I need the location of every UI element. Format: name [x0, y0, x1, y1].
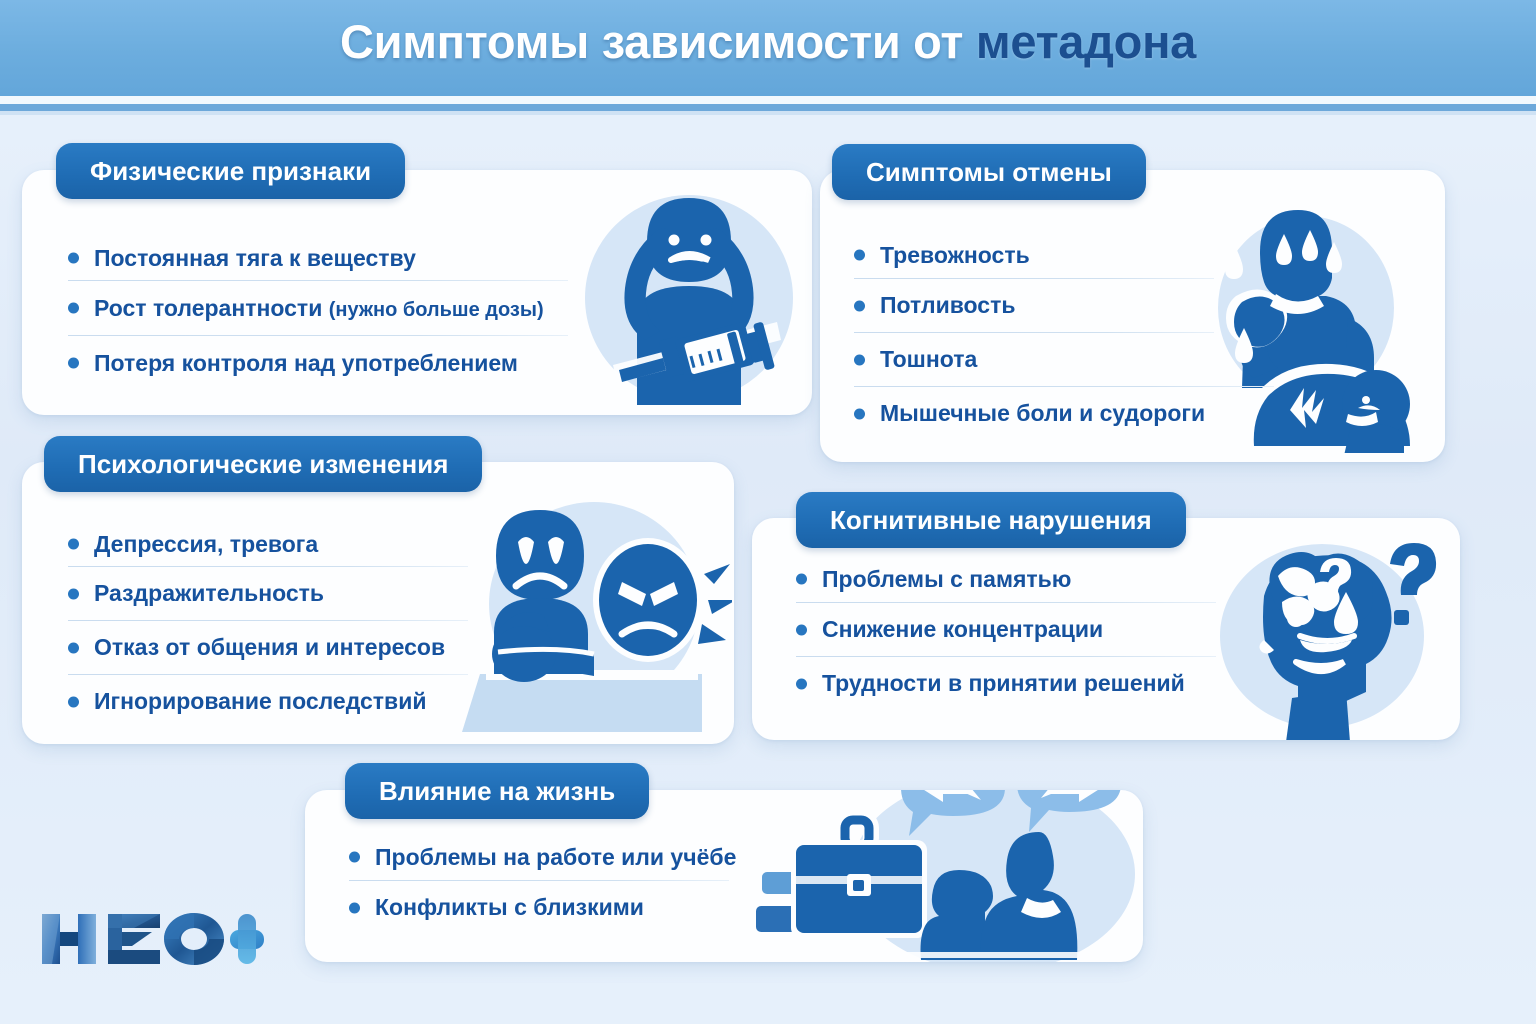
list-item-label: Постоянная тяга к веществу: [94, 245, 416, 271]
bullet-icon: [68, 253, 79, 264]
cognitive-impairment-list: Проблемы с памятью Снижение концентрации…: [796, 556, 1216, 710]
bullet-icon: [68, 303, 79, 314]
bullet-icon: [854, 408, 865, 419]
list-item: Проблемы с памятью: [796, 556, 1216, 602]
bullet-icon: [796, 624, 807, 635]
psychological-changes-list: Депрессия, тревога Раздражительность Отк…: [68, 522, 468, 728]
bullet-icon: [349, 902, 360, 913]
list-item-label: Мышечные боли и судороги: [880, 400, 1205, 426]
card-physical-signs: Постоянная тяга к веществу Рост толерант…: [22, 170, 812, 415]
list-item: Проблемы на работе или учёбе: [349, 834, 729, 880]
list-item-label: Проблемы с памятью: [822, 566, 1071, 592]
card-title-cognitive-impairment[interactable]: Когнитивные нарушения: [796, 492, 1186, 548]
list-item: Раздражительность: [68, 567, 468, 620]
infographic-poster: Симптомы зависимости от метадона: [0, 0, 1536, 1024]
list-item: Мышечные боли и судороги: [854, 387, 1214, 440]
page-title: Симптомы зависимости от метадона: [0, 14, 1536, 69]
header-divider-soft: [0, 111, 1536, 115]
header-divider-white: [0, 96, 1536, 104]
list-item: Трудности в принятии решений: [796, 657, 1216, 710]
list-item: Депрессия, тревога: [68, 522, 468, 566]
bullet-icon: [68, 642, 79, 653]
list-item: Снижение концентрации: [796, 603, 1216, 656]
list-item: Постоянная тяга к веществу: [68, 236, 568, 280]
list-item-label: Конфликты с близкими: [375, 894, 644, 920]
card-title-withdrawal-symptoms[interactable]: Симптомы отмены: [832, 144, 1146, 200]
head-with-brain-and-question-marks-icon: [1204, 530, 1449, 740]
card-title-psychological-changes[interactable]: Психологические изменения: [44, 436, 482, 492]
briefcase-books-and-arguing-couple-icon: [735, 790, 1143, 962]
bullet-icon: [68, 539, 79, 550]
bullet-icon: [349, 852, 360, 863]
bullet-icon: [68, 696, 79, 707]
list-item: Тревожность: [854, 232, 1214, 278]
bullet-icon: [796, 574, 807, 585]
physical-signs-list: Постоянная тяга к веществу Рост толерант…: [68, 236, 568, 390]
list-item-label: Снижение концентрации: [822, 616, 1103, 642]
list-item-label: Депрессия, тревога: [94, 531, 318, 557]
card-title-label: Влияние на жизнь: [379, 776, 615, 807]
card-title-label: Когнитивные нарушения: [830, 505, 1152, 536]
card-withdrawal-symptoms: Тревожность Потливость Тошнота Мышечные …: [820, 170, 1445, 462]
list-item-label: Рост толерантности: [94, 295, 329, 321]
list-item: Рост толерантности (нужно больше дозы): [68, 281, 568, 335]
list-item: Тошнота: [854, 333, 1214, 386]
card-title-label: Симптомы отмены: [866, 157, 1112, 188]
card-life-impact: Проблемы на работе или учёбе Конфликты с…: [305, 790, 1143, 962]
card-title-label: Психологические изменения: [78, 449, 448, 480]
list-item-label: Отказ от общения и интересов: [94, 634, 445, 660]
page-title-main: Симптомы зависимости от: [340, 15, 976, 68]
bullet-icon: [854, 300, 865, 311]
list-item: Конфликты с близкими: [349, 881, 729, 934]
card-title-life-impact[interactable]: Влияние на жизнь: [345, 763, 649, 819]
page-title-accent: метадона: [976, 15, 1196, 68]
life-impact-list: Проблемы на работе или учёбе Конфликты с…: [349, 834, 729, 934]
card-psychological-changes: Депрессия, тревога Раздражительность Отк…: [22, 462, 734, 744]
list-item-sublabel: (нужно больше дозы): [329, 299, 544, 321]
header-divider-blue: [0, 104, 1536, 111]
list-item: Игнорирование последствий: [68, 675, 468, 728]
withdrawal-symptoms-list: Тревожность Потливость Тошнота Мышечные …: [854, 232, 1214, 440]
list-item-label: Потеря контроля над употреблением: [94, 350, 518, 376]
list-item: Потливость: [854, 279, 1214, 332]
bullet-icon: [796, 678, 807, 689]
bullet-icon: [854, 354, 865, 365]
list-item-label: Потливость: [880, 292, 1016, 318]
bullet-icon: [68, 358, 79, 369]
stressed-person-with-syringe-icon: [567, 180, 807, 405]
sad-and-angry-faces-icon: [452, 482, 732, 732]
list-item: Потеря контроля над употреблением: [68, 336, 568, 390]
bullet-icon: [854, 250, 865, 261]
card-title-label: Физические признаки: [90, 156, 371, 187]
bullet-icon: [68, 588, 79, 599]
list-item-label: Тревожность: [880, 242, 1030, 268]
card-cognitive-impairment: Проблемы с памятью Снижение концентрации…: [752, 518, 1460, 740]
list-item: Отказ от общения и интересов: [68, 621, 468, 674]
neo-plus-logo[interactable]: НЕО+: [34, 902, 264, 976]
sweating-and-cramping-person-icon: [1198, 198, 1443, 453]
list-item-label: Проблемы на работе или учёбе: [375, 844, 736, 870]
list-item-label: Раздражительность: [94, 580, 324, 606]
logo-text: НЕО+: [34, 902, 78, 906]
list-item-label: Трудности в принятии решений: [822, 670, 1185, 696]
list-item-label: Тошнота: [880, 346, 977, 372]
list-item-label: Игнорирование последствий: [94, 688, 426, 714]
card-title-physical-signs[interactable]: Физические признаки: [56, 143, 405, 199]
